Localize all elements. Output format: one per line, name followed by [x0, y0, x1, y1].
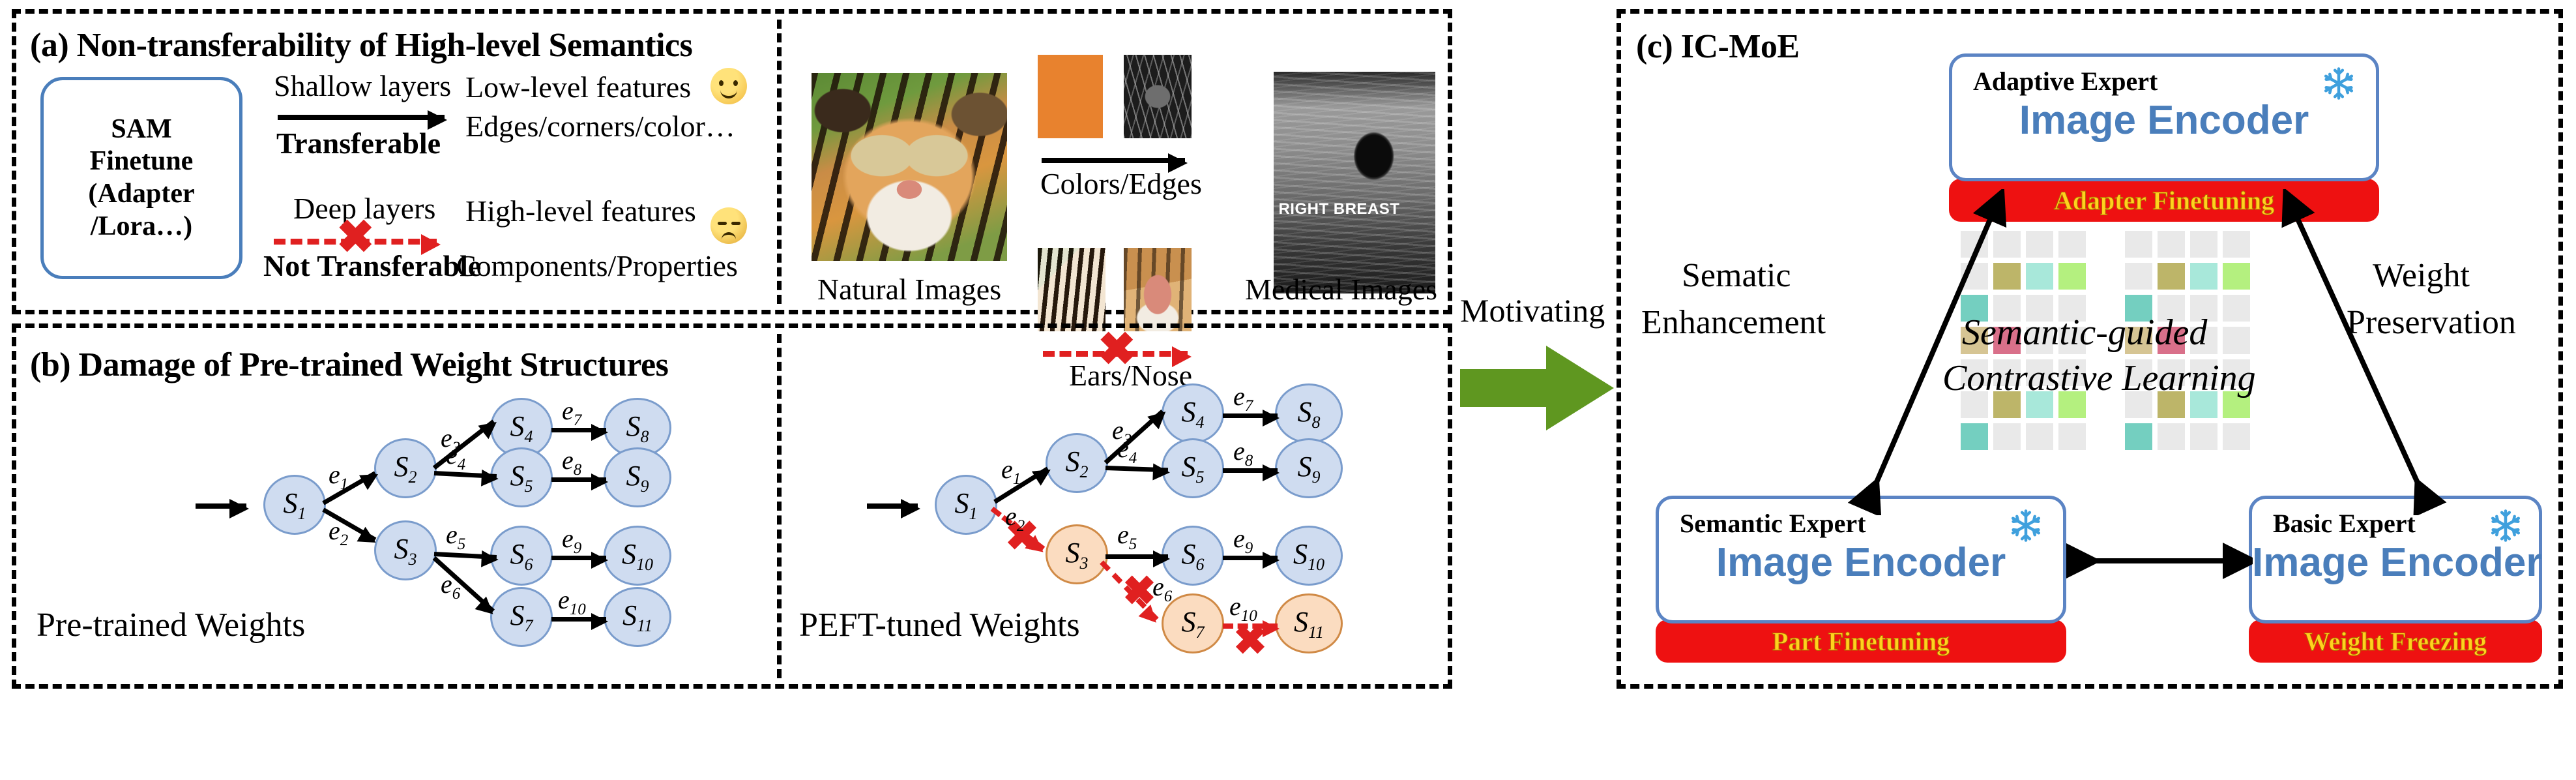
sam-line-3: (Adapter	[88, 178, 194, 211]
peft-node-S1: S1	[935, 475, 997, 535]
shallow-layers-label: Shallow layers	[274, 70, 451, 102]
motivating-label: Motivating	[1460, 293, 1605, 328]
adaptive-expert-card: Adaptive Expert Image Encoder	[1949, 53, 2379, 181]
peft-edge-label-e4: e4	[1117, 433, 1137, 468]
node-S3: S3	[374, 520, 437, 580]
panel-c-title: (c) IC-MoE	[1636, 27, 1800, 66]
medical-images-caption: Medical Images	[1245, 274, 1437, 305]
ultrasound-label: RIGHT BREAST	[1278, 200, 1399, 218]
natural-images-caption: Natural Images	[782, 274, 1036, 305]
pretrained-weights-caption: Pre-trained Weights	[37, 608, 305, 644]
peft-node-S3: S3	[1046, 524, 1108, 584]
semantic-enhancement-arrow	[1845, 189, 2040, 515]
peft-edge-label-e9: e9	[1233, 523, 1253, 558]
peft-x-icon-e10: ✖	[1233, 621, 1267, 661]
edge-label-e2: e2	[329, 515, 348, 550]
low-level-features-line1: Low-level features	[465, 72, 691, 103]
peft-node-S4: S4	[1162, 383, 1224, 443]
heatmap-cell	[2057, 262, 2087, 291]
tiger-ear-crop	[1038, 248, 1105, 331]
natural-image-tiger	[812, 73, 1007, 261]
node-S10: S10	[604, 526, 671, 586]
high-level-features-line1: High-level features	[465, 196, 696, 227]
peft-edge-e5	[1105, 554, 1168, 559]
peft-node-S9: S9	[1275, 438, 1343, 498]
basic-expert-encoder-label: Image Encoder	[2252, 539, 2539, 586]
heatmap-cell	[2057, 230, 2087, 259]
happy-face-features	[710, 68, 747, 104]
panel-b-divider	[777, 334, 782, 678]
edge-label-e9: e9	[562, 523, 581, 558]
basic-expert-box[interactable]: Weight Freezing Basic Expert Image Encod…	[2249, 496, 2542, 663]
peft-x-icon-e6: ✖	[1122, 571, 1156, 612]
semantic-expert-mode-label: Part Finetuning	[1772, 626, 1950, 657]
transferable-arrow	[278, 115, 445, 120]
tree-input-arrow	[196, 503, 246, 509]
edge-label-e7: e7	[562, 395, 581, 430]
peft-weights-caption: PEFT-tuned Weights	[799, 608, 1080, 644]
heatmap-cell	[2156, 422, 2186, 451]
tiger-nose-crop	[1124, 248, 1192, 331]
node-S6: S6	[490, 526, 553, 586]
peft-node-S11: S11	[1275, 593, 1343, 653]
heatmap-cell	[2124, 262, 2154, 291]
sam-line-4: /Lora…)	[88, 211, 194, 243]
peft-edge-label-e5: e5	[1117, 519, 1137, 554]
peft-edge-label-e2: e2	[1005, 501, 1025, 535]
snowflake-icon	[2321, 66, 2356, 101]
peft-edge-label-e6: e6	[1152, 571, 1172, 606]
peft-edge-label-e10: e10	[1229, 591, 1257, 625]
semantic-enhancement-line1: Sematic	[1682, 258, 1791, 294]
semantic-expert-box[interactable]: Part Finetuning Semantic Expert Image En…	[1656, 496, 2066, 663]
peft-node-S2: S2	[1046, 433, 1108, 493]
adaptive-expert-encoder-label: Image Encoder	[1952, 97, 2376, 143]
medical-image-ultrasound: RIGHT BREAST	[1274, 72, 1435, 293]
node-S7: S7	[490, 587, 553, 647]
panel-b-title: (b) Damage of Pre-trained Weight Structu…	[30, 346, 668, 384]
weight-preservation-arrow	[2255, 189, 2464, 515]
node-S9: S9	[604, 447, 671, 507]
node-S5: S5	[490, 447, 553, 507]
heatmap-cell	[2189, 230, 2219, 259]
motivating-green-arrow	[1460, 339, 1617, 437]
edge-label-e5: e5	[446, 519, 465, 554]
low-level-features-line2: Edges/corners/color…	[465, 111, 735, 142]
heatmap-cell	[2189, 262, 2219, 291]
figure-root: (a) Non-transferability of High-level Se…	[0, 0, 2576, 780]
colors-edges-arrow	[1042, 158, 1185, 163]
peft-node-S10: S10	[1275, 526, 1343, 586]
heatmap-cell	[2057, 422, 2087, 451]
basic-expert-mode-label: Weight Freezing	[2304, 626, 2487, 657]
heatmap-cell	[2221, 325, 2251, 355]
basic-expert-mode-bar: Weight Freezing	[2249, 620, 2542, 663]
sam-line-1: SAM	[88, 113, 194, 146]
sam-finetune-box: SAM Finetune (Adapter /Lora…)	[40, 77, 242, 279]
heatmap-cell	[2156, 230, 2186, 259]
peft-node-S5: S5	[1162, 438, 1224, 498]
node-S11: S11	[604, 587, 671, 647]
panel-a-divider	[777, 20, 782, 304]
heatmap-cell	[2221, 262, 2251, 291]
peft-edge-label-e8: e8	[1233, 436, 1253, 470]
semantic-expert-title: Semantic Expert	[1680, 508, 1866, 539]
edge-label-e4: e4	[446, 440, 465, 474]
heatmap-cell	[2124, 422, 2154, 451]
heatmap-cell	[2221, 230, 2251, 259]
snowflake-icon	[2488, 508, 2523, 543]
heatmap-cell	[2124, 230, 2154, 259]
peft-edge-label-e1: e1	[1001, 454, 1021, 488]
adaptive-expert-mode-label: Adapter Finetuning	[2054, 185, 2274, 216]
edge-map-tiger	[1124, 55, 1192, 138]
peft-edge-label-e7: e7	[1233, 381, 1253, 415]
heatmap-cell	[2189, 422, 2219, 451]
adaptive-expert-title: Adaptive Expert	[1973, 66, 2158, 97]
colors-edges-label: Colors/Edges	[1040, 168, 1202, 200]
heatmap-cell	[2156, 262, 2186, 291]
sam-line-2: Finetune	[88, 145, 194, 178]
edge-label-e6: e6	[441, 569, 460, 603]
edge-label-e1: e1	[329, 459, 348, 494]
high-level-features-line2: Components/Properties	[456, 250, 738, 282]
panel-a-title: (a) Non-transferability of High-level Se…	[30, 26, 692, 65]
semantic-expert-mode-bar: Part Finetuning	[1656, 620, 2066, 663]
peft-tree-input-arrow	[867, 503, 918, 509]
experts-link-arrow	[2066, 541, 2253, 580]
not-transferable-label: Not Transferable	[263, 250, 481, 282]
node-S1: S1	[263, 475, 326, 535]
edge-label-e8: e8	[562, 445, 581, 479]
color-swatch-orange	[1038, 55, 1103, 138]
transferable-label: Transferable	[276, 128, 441, 159]
edge-label-e10: e10	[558, 584, 586, 619]
peft-node-S8: S8	[1275, 383, 1343, 443]
heatmap-cell	[2221, 422, 2251, 451]
pensive-face-features	[710, 207, 747, 244]
heatmap-cell	[2221, 293, 2251, 323]
node-S2: S2	[374, 438, 437, 498]
semantic-enhancement-line2: Enhancement	[1641, 305, 1826, 341]
semantic-expert-encoder-label: Image Encoder	[1659, 539, 2063, 586]
